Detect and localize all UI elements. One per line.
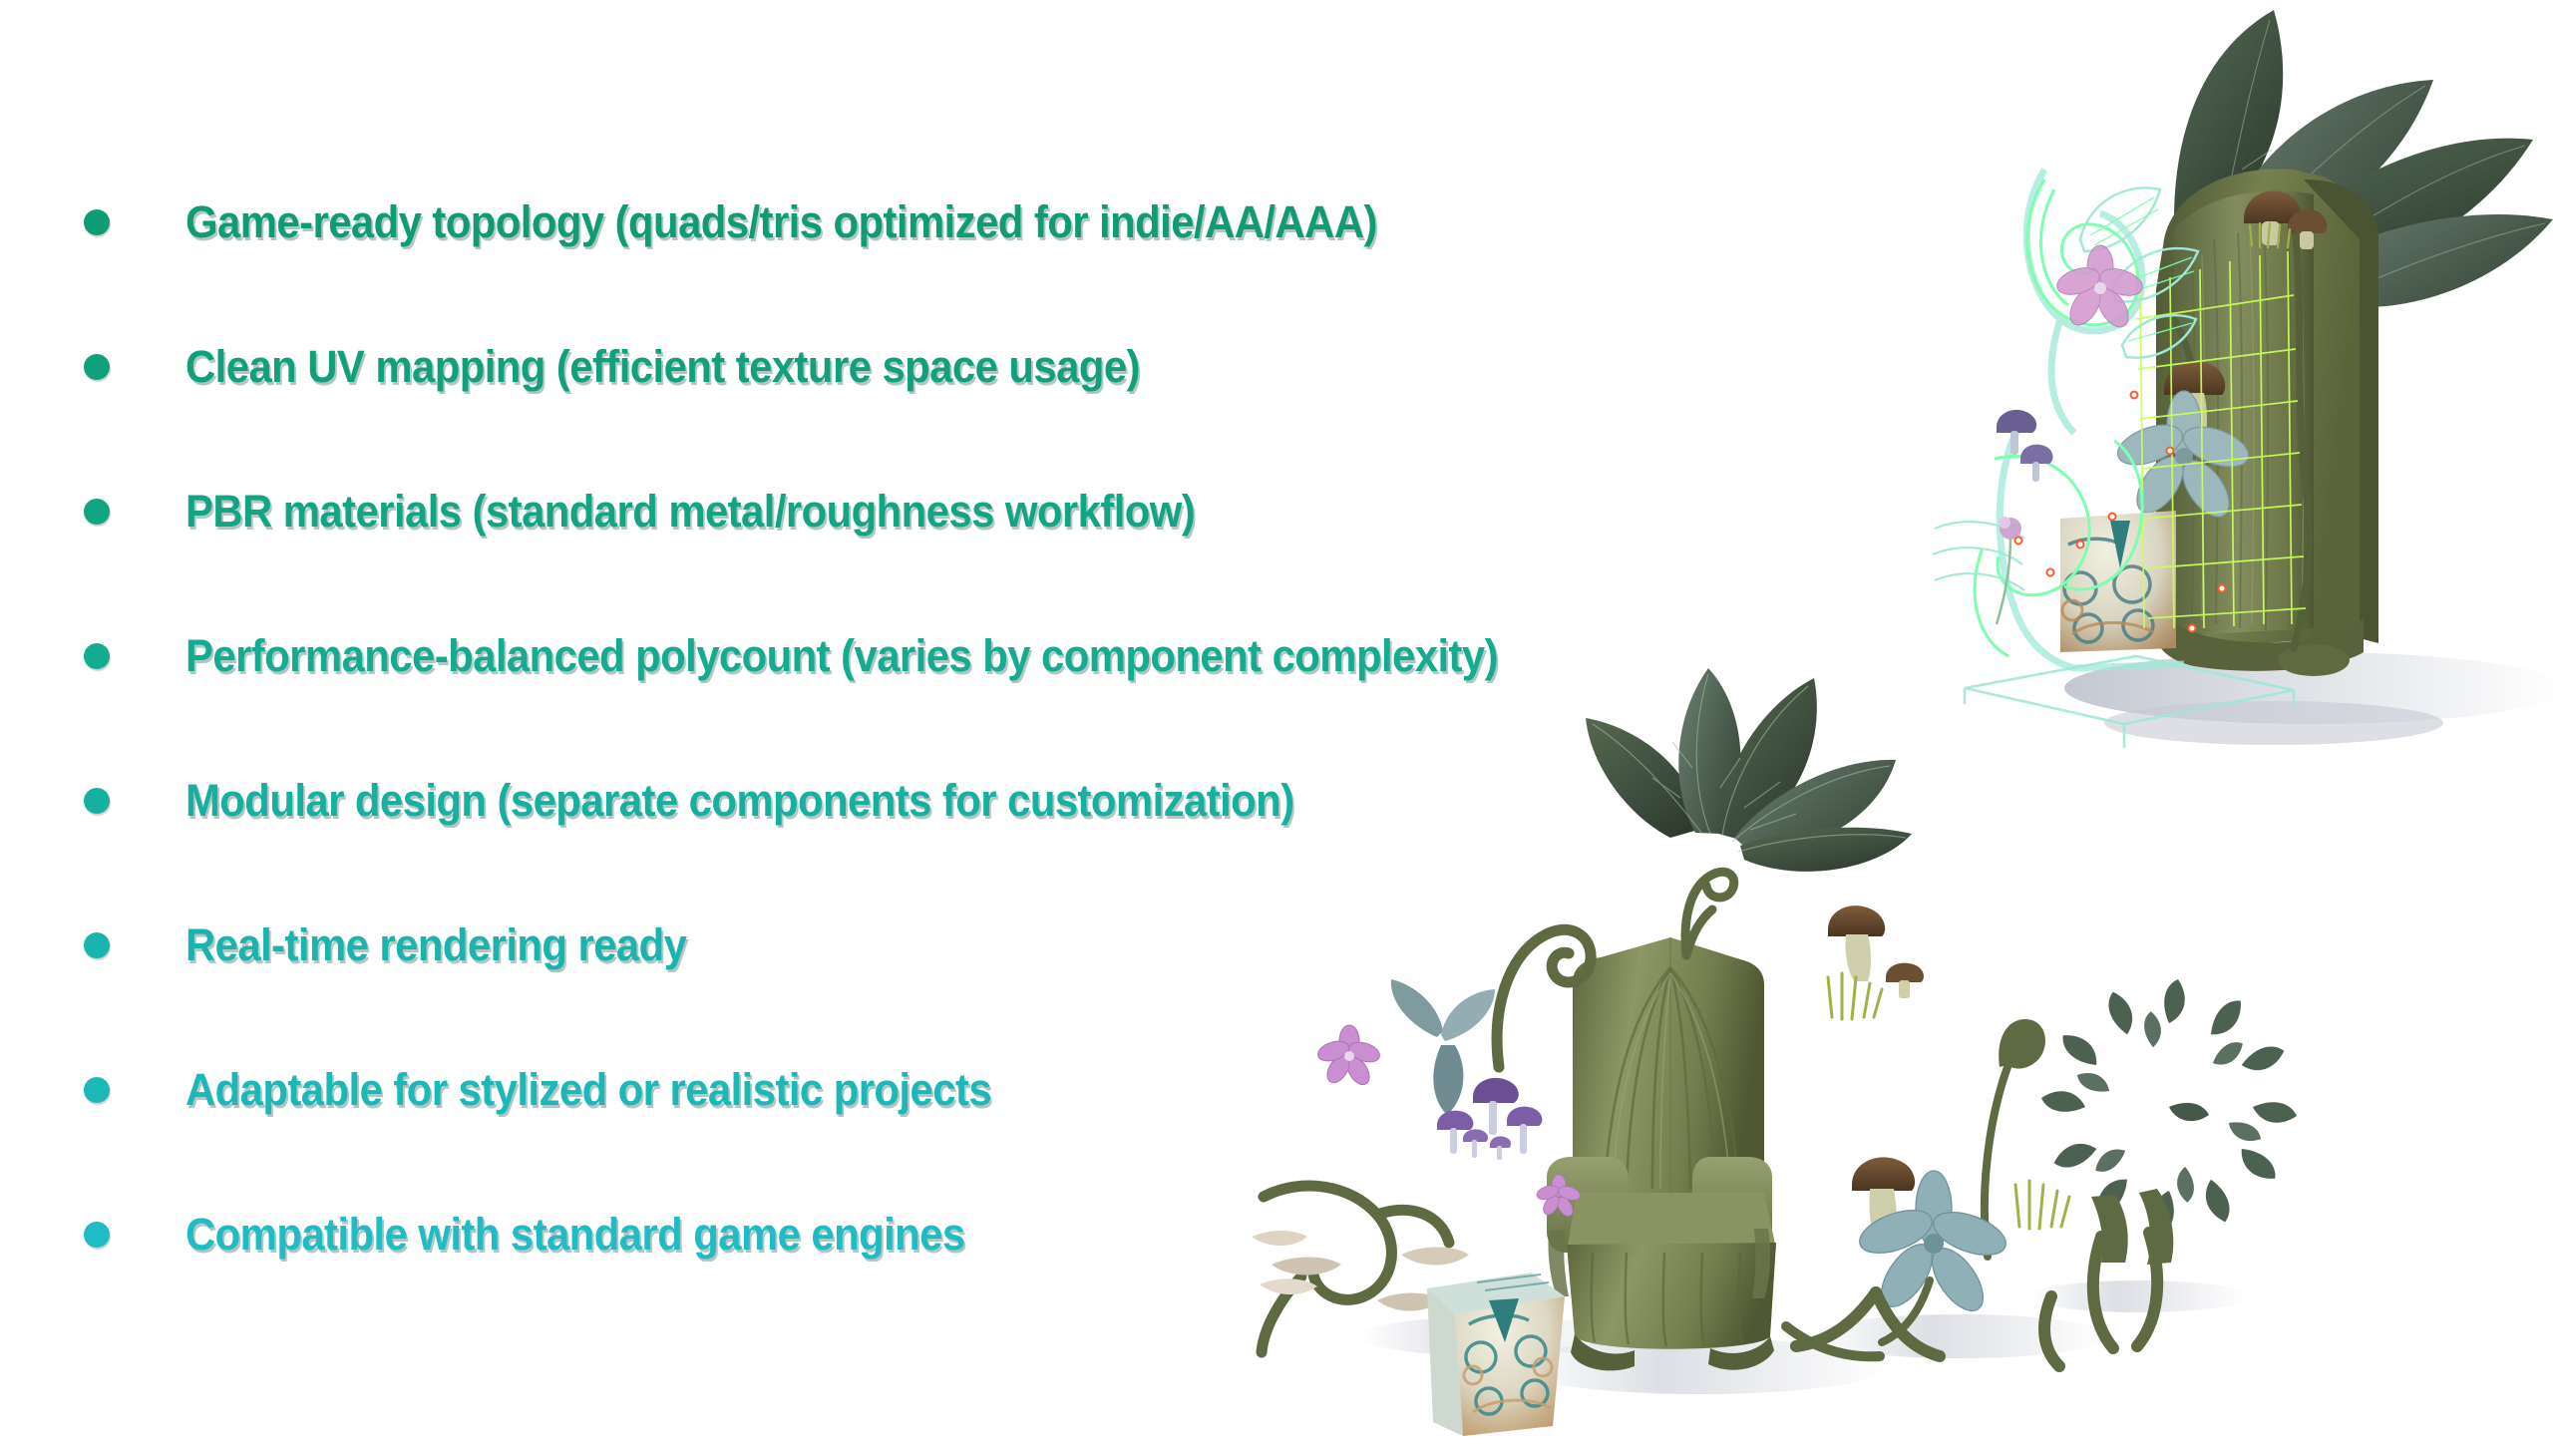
feature-item-label: PBR materials (standard metal/roughness … bbox=[185, 486, 1195, 538]
feature-item-label: Clean UV mapping (efficient texture spac… bbox=[185, 341, 1140, 393]
vine-sprout-icon bbox=[1685, 872, 1734, 955]
bullet-dot-icon bbox=[84, 1077, 110, 1103]
feature-item-label: Compatible with standard game engines bbox=[185, 1209, 965, 1261]
feature-item-6: Real-time rendering ready bbox=[0, 915, 724, 975]
flower-pink-icon bbox=[1315, 1025, 1382, 1088]
feature-item-label: Real-time rendering ready bbox=[185, 919, 686, 971]
bullet-dot-icon bbox=[84, 1222, 110, 1248]
feature-item-2: Clean UV mapping (efficient texture spac… bbox=[0, 337, 1212, 397]
bullet-dot-icon bbox=[84, 209, 110, 235]
leaf-cluster-icon bbox=[1586, 668, 1912, 872]
feature-item-8: Compatible with standard game engines bbox=[0, 1205, 1023, 1265]
bullet-dot-icon bbox=[84, 499, 110, 525]
leaf-wreath-icon bbox=[2041, 979, 2297, 1235]
bullet-dot-icon bbox=[84, 643, 110, 669]
feature-item-5: Modular design (separate components for … bbox=[0, 771, 1377, 831]
throne-chair bbox=[1547, 937, 1776, 1370]
grass-tuft-icon bbox=[1828, 973, 1882, 1019]
stalk-icon bbox=[1985, 1019, 2045, 1257]
feature-item-label: Game-ready topology (quads/tris optimize… bbox=[185, 196, 1377, 248]
feature-item-7: Adaptable for stylized or realistic proj… bbox=[0, 1060, 1052, 1120]
fantasy-throne-modular-components bbox=[1242, 638, 2339, 1456]
mushroom-icon bbox=[1886, 963, 1924, 998]
bullet-dot-icon bbox=[84, 788, 110, 814]
bullet-dot-icon bbox=[84, 354, 110, 380]
cushion-stool bbox=[1427, 1273, 1565, 1436]
feature-item-1: Game-ready topology (quads/tris optimize… bbox=[0, 192, 1467, 252]
mushroom-icon bbox=[1828, 906, 1885, 981]
cushion-panel bbox=[2060, 511, 2176, 652]
feature-item-label: Modular design (separate components for … bbox=[185, 775, 1294, 827]
feature-item-label: Adaptable for stylized or realistic proj… bbox=[185, 1064, 991, 1116]
bullet-dot-icon bbox=[84, 932, 110, 958]
root-vine-icon bbox=[2091, 1189, 2173, 1265]
grass-tuft-icon bbox=[2015, 1181, 2069, 1229]
feature-item-3: PBR materials (standard metal/roughness … bbox=[0, 482, 1271, 542]
slide-canvas: Game-ready topology (quads/tris optimize… bbox=[0, 0, 2553, 1436]
